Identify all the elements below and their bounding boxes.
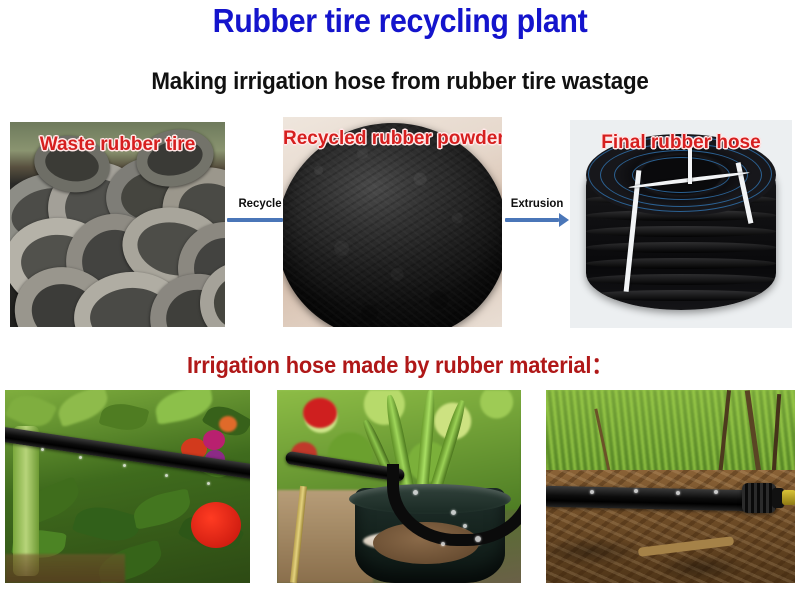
hose-fitting-yellow-tip: [782, 490, 795, 505]
photo-hose-soil: [546, 390, 795, 583]
arrow-recycle-label: Recycle: [229, 196, 292, 210]
photo-recycled-rubber-powder: Recycled rubber powder: [283, 117, 502, 327]
page-subtitle: Making irrigation hose from rubber tire …: [28, 68, 772, 96]
powder-texture-overlay: [283, 123, 502, 327]
section-title: Irrigation hose made by rubber material：: [20, 346, 780, 380]
arrow-recycle-line: [227, 218, 283, 222]
photo-hose-flowers: [5, 390, 250, 583]
page-title: Rubber tire recycling plant: [32, 2, 768, 40]
arrow-extrusion: Extrusion: [505, 196, 569, 230]
photo-hose-pot: [277, 390, 521, 583]
photo-waste-rubber-tire: Waste rubber tire: [10, 122, 225, 327]
rubber-powder-heap: [283, 123, 502, 327]
photo-final-rubber-hose: Final rubber hose: [570, 120, 792, 328]
arrow-extrusion-line: [505, 218, 559, 222]
arrow-extrusion-label: Extrusion: [507, 196, 568, 210]
hose-fitting: [742, 483, 776, 513]
arrow-extrusion-head: [559, 213, 569, 227]
soaker-hose: [546, 486, 758, 512]
coil-tie-strap-center: [688, 148, 692, 184]
